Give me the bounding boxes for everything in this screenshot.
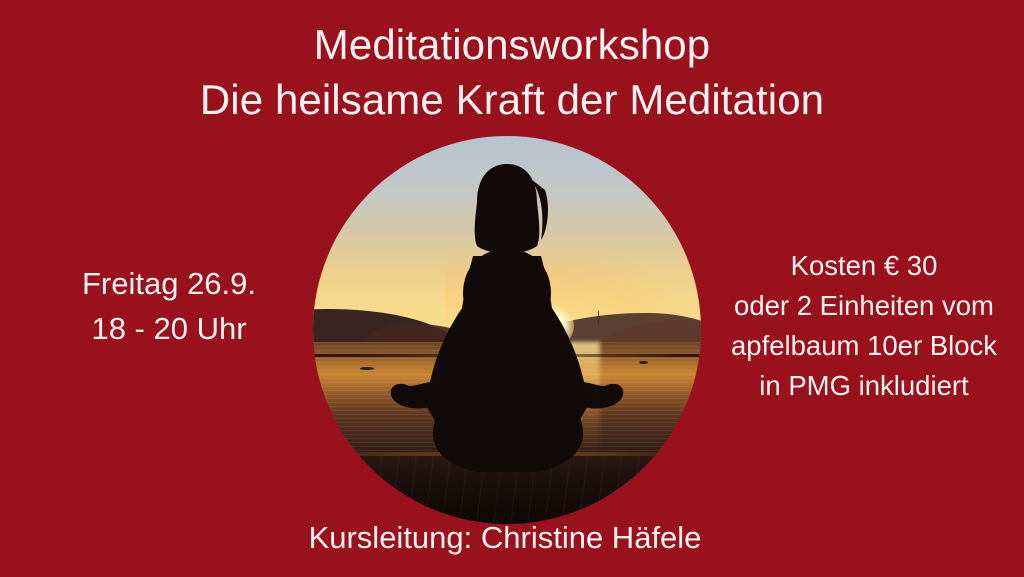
instructor-caption: Kursleitung: Christine Häfele bbox=[0, 517, 1010, 559]
meditation-sunset-photo bbox=[313, 136, 701, 524]
photo-scene bbox=[313, 136, 701, 524]
poster-canvas: Meditationsworkshop Die heilsame Kraft d… bbox=[0, 0, 1024, 577]
meditating-person-silhouette bbox=[313, 136, 701, 524]
title-line-2: Die heilsame Kraft der Meditation bbox=[0, 73, 1024, 128]
pricing-line-3: apfelbaum 10er Block bbox=[704, 326, 1024, 366]
page-title: Meditationsworkshop Die heilsame Kraft d… bbox=[0, 18, 1024, 127]
pricing-line-1: Kosten € 30 bbox=[704, 246, 1024, 286]
pricing-line-2: oder 2 Einheiten vom bbox=[704, 286, 1024, 326]
schedule-date: Freitag 26.9. bbox=[24, 262, 314, 307]
schedule-text: Freitag 26.9. 18 - 20 Uhr bbox=[24, 262, 314, 352]
pricing-text: Kosten € 30 oder 2 Einheiten vom apfelba… bbox=[704, 246, 1024, 406]
pricing-line-4: in PMG inkludiert bbox=[704, 366, 1024, 406]
schedule-time: 18 - 20 Uhr bbox=[24, 307, 314, 352]
title-line-1: Meditationsworkshop bbox=[0, 18, 1024, 73]
